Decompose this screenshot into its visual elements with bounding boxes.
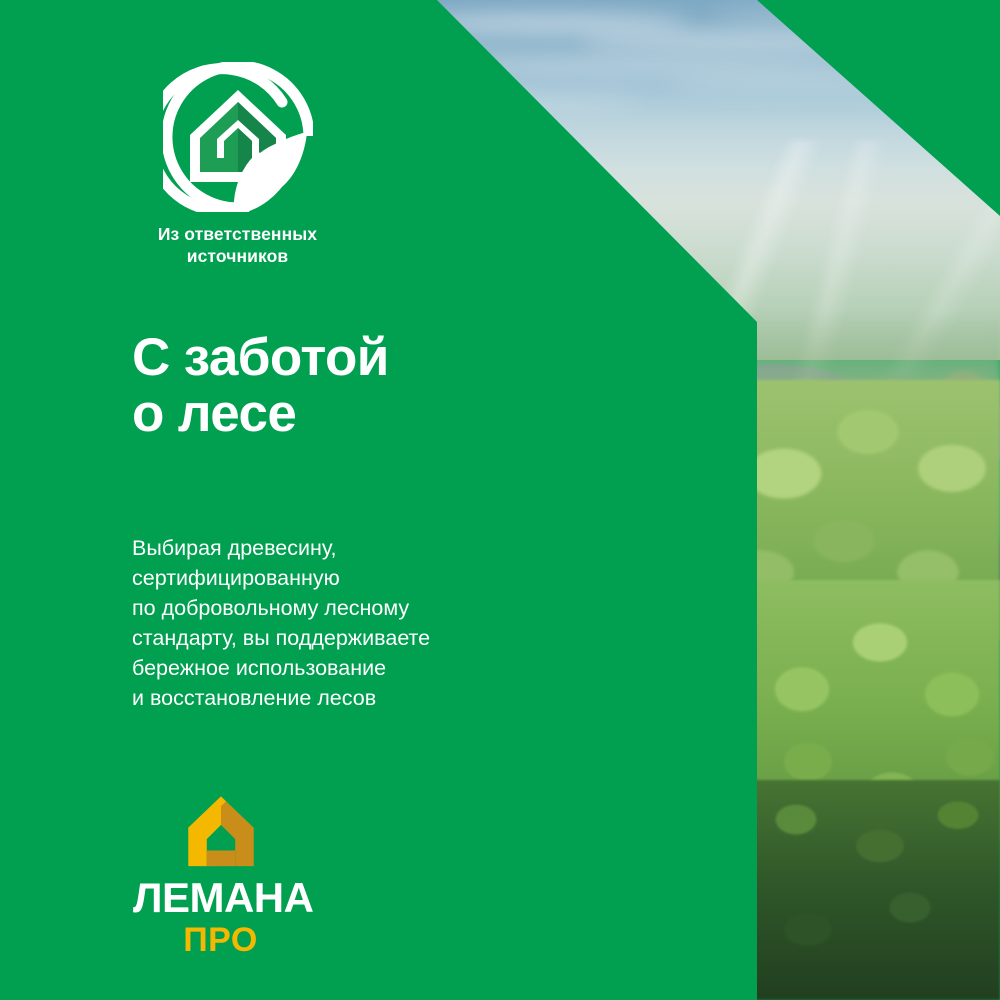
body-copy: Выбирая древесину, сертифицированную по … <box>132 533 430 714</box>
brand-logo: ЛЕМАНА ПРО <box>133 795 308 957</box>
body-line-6: и восстановление лесов <box>132 683 430 713</box>
body-line-4: стандарту, вы поддерживаете <box>132 623 430 653</box>
certification-caption: Из ответственных источников <box>130 224 345 267</box>
body-line-2: сертифицированную <box>132 563 430 593</box>
lemana-pro-house-icon <box>185 795 257 869</box>
body-line-1: Выбирая древесину, <box>132 533 430 563</box>
brand-sub: ПРО <box>133 923 308 957</box>
responsible-sources-house-leaf-icon <box>163 62 313 212</box>
certification-caption-line-1: Из ответственных <box>130 224 345 246</box>
poster-canvas: Из ответственных источников С заботой о … <box>0 0 1000 1000</box>
brand-name: ЛЕМАНА <box>133 877 308 919</box>
certification-badge: Из ответственных источников <box>130 62 345 267</box>
headline: С заботой о лесе <box>132 330 389 442</box>
certification-caption-line-2: источников <box>130 246 345 268</box>
headline-line-2: о лесе <box>132 386 389 442</box>
body-line-5: бережное использование <box>132 653 430 683</box>
headline-line-1: С заботой <box>132 330 389 386</box>
poster-content: Из ответственных источников С заботой о … <box>0 0 1000 1000</box>
body-line-3: по добровольному лесному <box>132 593 430 623</box>
